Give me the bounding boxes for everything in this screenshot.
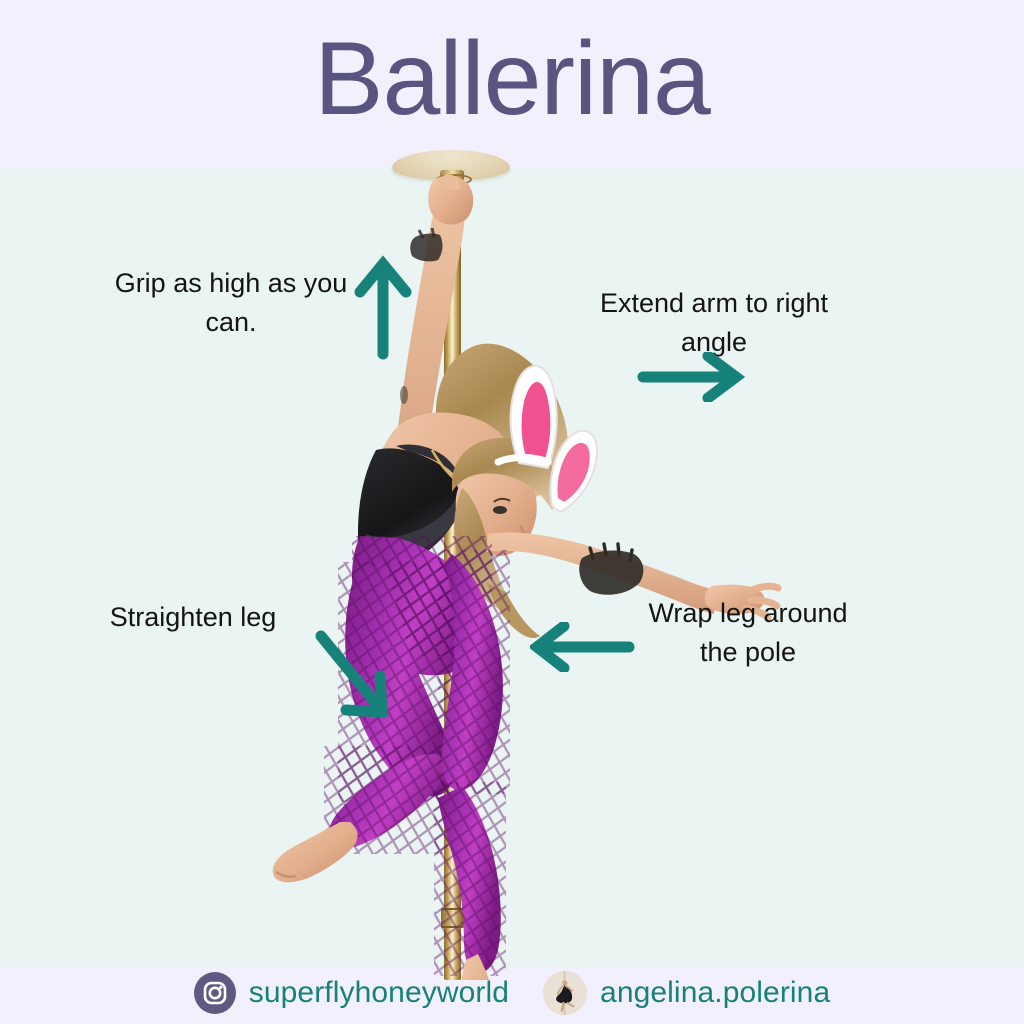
handle-label-superflyhoneyworld[interactable]: superflyhoneyworld — [249, 976, 509, 1010]
instagram-icon[interactable] — [194, 972, 236, 1014]
upper-arm-tattoo — [579, 551, 643, 595]
footer-handles: superflyhoneyworld angelina.p — [0, 962, 1024, 1024]
poster: Ballerina — [0, 0, 1024, 1024]
page-title: Ballerina — [0, 14, 1024, 144]
dancer-leggings — [324, 536, 510, 976]
handle-label-angelina-polerina[interactable]: angelina.polerina — [600, 976, 830, 1010]
arrow-left-icon — [530, 622, 636, 677]
arrow-up-icon — [352, 252, 414, 367]
arrow-right-icon — [636, 352, 746, 407]
handle-angelina-polerina[interactable]: angelina.polerina — [543, 971, 830, 1015]
forearm-tattoo — [410, 234, 442, 262]
handle-superflyhoneyworld[interactable]: superflyhoneyworld — [194, 972, 509, 1014]
annotation-wrap-leg-text: Wrap leg around the pole — [648, 594, 848, 672]
annotation-extend-arm-text: Extend arm to right angle — [598, 284, 830, 362]
annotation-grip-text: Grip as high as you can. — [100, 264, 362, 342]
arrow-down-right-icon — [312, 628, 394, 725]
dancer-eye — [493, 506, 507, 514]
annotation-straighten-leg-text: Straighten leg — [62, 598, 324, 637]
avatar[interactable] — [543, 971, 587, 1015]
